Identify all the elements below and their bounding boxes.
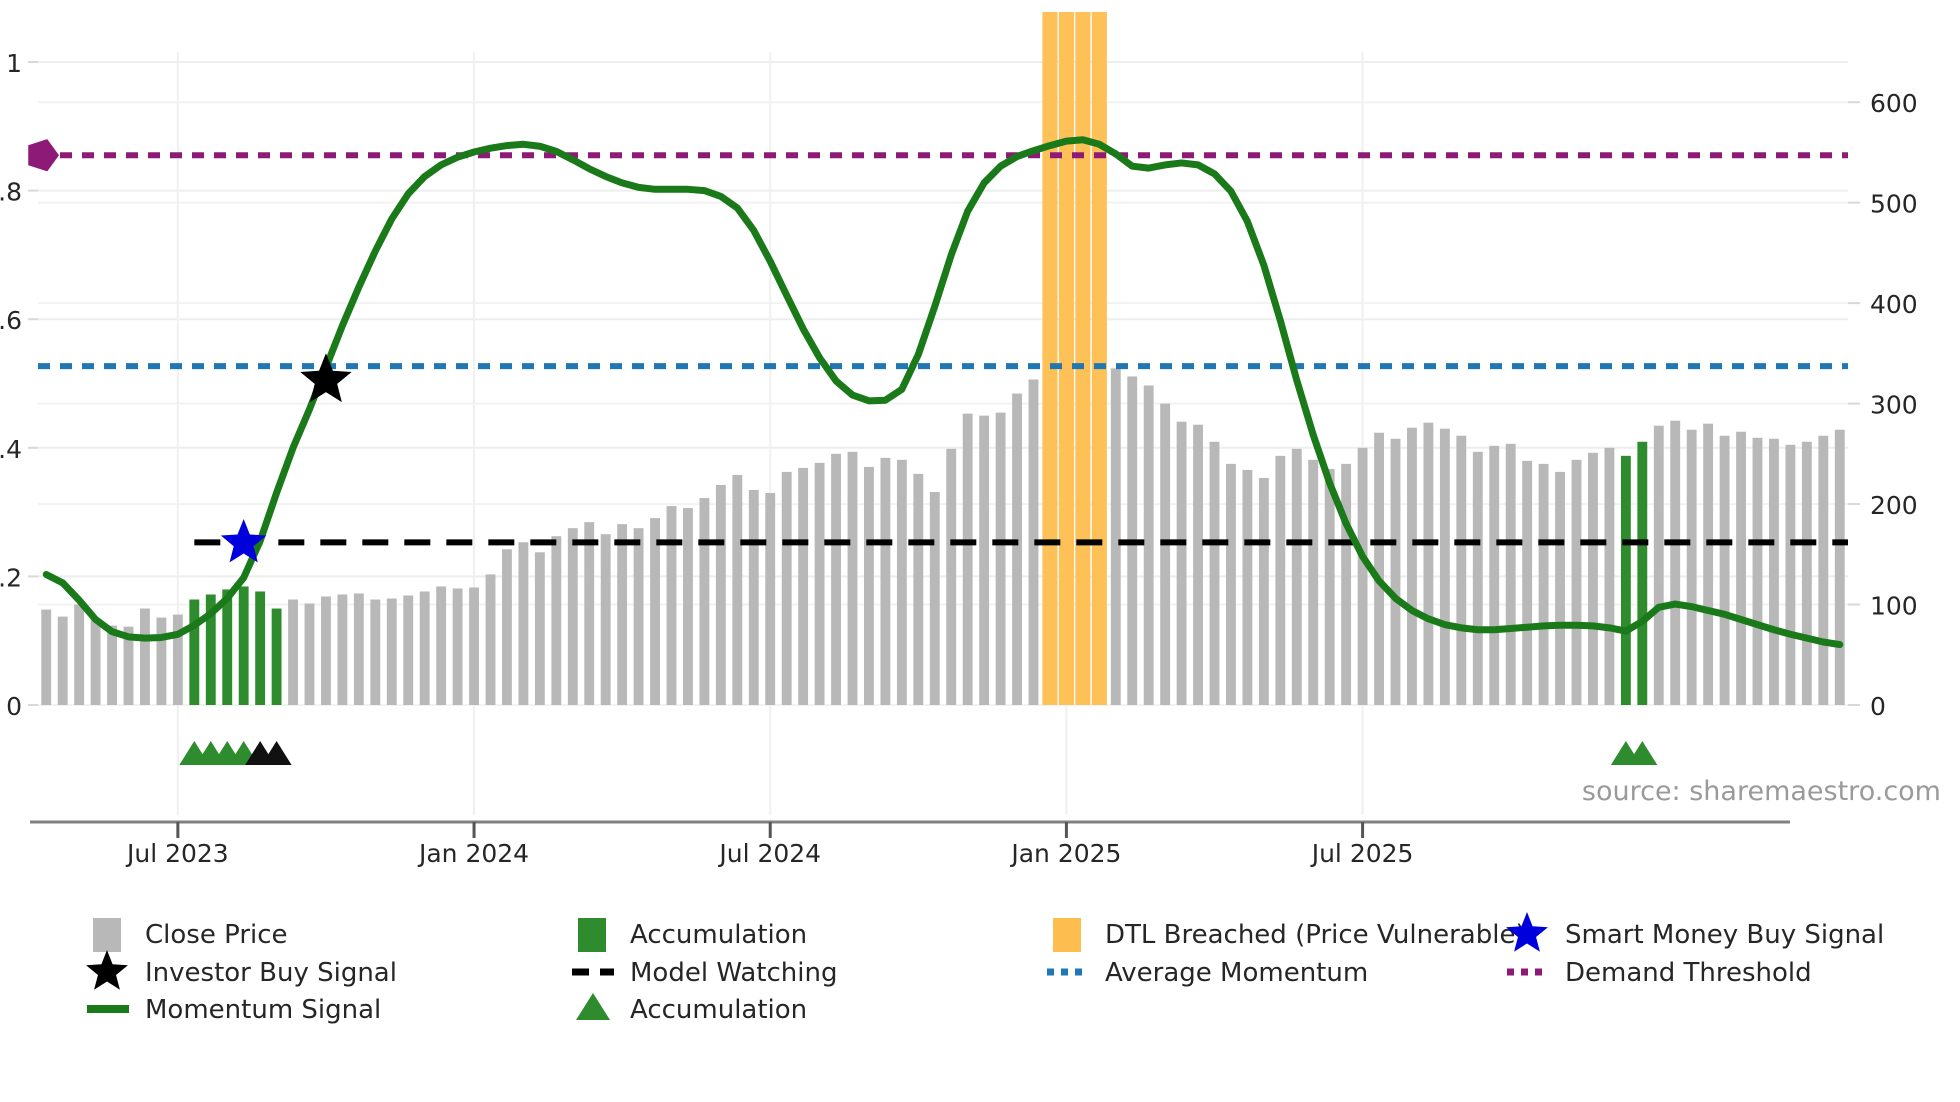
bar-close-price bbox=[1720, 436, 1730, 705]
bar-close-price bbox=[1703, 424, 1713, 705]
bar-close-price bbox=[716, 485, 726, 705]
left-axis-tick-label: 0.4 bbox=[0, 435, 22, 464]
bar-close-price bbox=[584, 522, 594, 705]
bar-close-price bbox=[963, 414, 973, 705]
bar-dtl-breached bbox=[1042, 12, 1057, 705]
bar-close-price bbox=[1325, 469, 1335, 705]
bar-close-price bbox=[1835, 430, 1845, 705]
bar-accumulation bbox=[239, 586, 249, 705]
legend-item-label: DTL Breached (Price Vulnerable) bbox=[1105, 920, 1526, 950]
right-axis-tick-label: 300 bbox=[1870, 391, 1918, 420]
bar-close-price bbox=[1670, 421, 1680, 705]
right-axis-tick-label: 0 bbox=[1870, 692, 1886, 721]
bar-close-price bbox=[1308, 460, 1318, 705]
bar-close-price bbox=[1144, 386, 1154, 705]
bar-close-price bbox=[1604, 448, 1614, 705]
bar-close-price bbox=[699, 498, 709, 705]
bar-close-price bbox=[1374, 433, 1384, 705]
left-axis-tick-label: 1 bbox=[6, 49, 22, 78]
left-axis-tick-label: 0 bbox=[6, 692, 22, 721]
bar-close-price bbox=[1654, 426, 1664, 705]
bar-close-price bbox=[453, 588, 463, 705]
bar-close-price bbox=[469, 587, 479, 705]
bar-close-price bbox=[979, 416, 989, 705]
bar-close-price bbox=[650, 518, 660, 705]
bar-close-price bbox=[1785, 445, 1795, 705]
bar-accumulation bbox=[189, 600, 199, 705]
right-axis-tick-label: 500 bbox=[1870, 190, 1918, 219]
x-axis-tick-label: Jan 2025 bbox=[1009, 839, 1121, 868]
bar-close-price bbox=[41, 610, 51, 705]
bar-dtl-breached bbox=[1059, 12, 1074, 705]
bar-close-price bbox=[1522, 461, 1532, 705]
bar-close-price bbox=[1440, 429, 1450, 705]
bar-close-price bbox=[370, 600, 380, 705]
bar-close-price bbox=[403, 595, 413, 705]
right-axis-tick-label: 200 bbox=[1870, 491, 1918, 520]
bar-close-price bbox=[1423, 423, 1433, 705]
legend-item-label: Accumulation bbox=[630, 920, 807, 950]
bar-close-price bbox=[1818, 436, 1828, 705]
bar-close-price bbox=[74, 605, 84, 705]
left-axis-tick-label: 0.2 bbox=[0, 563, 22, 592]
legend-swatch-square bbox=[1053, 918, 1081, 952]
bar-close-price bbox=[1341, 464, 1351, 705]
bar-close-price bbox=[518, 542, 528, 705]
bar-dtl-breached bbox=[1075, 12, 1090, 705]
bar-close-price bbox=[749, 490, 759, 705]
bar-close-price bbox=[996, 413, 1006, 705]
bar-close-price bbox=[1160, 404, 1170, 705]
legend-item-label: Smart Money Buy Signal bbox=[1565, 920, 1884, 950]
bar-dtl-breached bbox=[1092, 12, 1107, 705]
bar-close-price bbox=[1687, 430, 1697, 705]
bar-close-price bbox=[1193, 425, 1203, 705]
x-axis-tick-label: Jan 2024 bbox=[417, 839, 529, 868]
stock-momentum-chart: 00.20.40.60.81 0100200300400500600 Jul 2… bbox=[0, 0, 1960, 1102]
bar-close-price bbox=[156, 618, 166, 705]
bar-close-price bbox=[1111, 368, 1121, 705]
bar-close-price bbox=[667, 506, 677, 705]
bar-close-price bbox=[354, 593, 364, 705]
legend-swatch-square bbox=[578, 918, 606, 952]
bar-close-price bbox=[1275, 456, 1285, 705]
bar-close-price bbox=[1473, 452, 1483, 705]
bar-close-price bbox=[1539, 464, 1549, 705]
bar-close-price bbox=[1489, 446, 1499, 705]
legend-item-label: Demand Threshold bbox=[1565, 958, 1812, 988]
legend-item-label: Accumulation bbox=[630, 995, 807, 1025]
bar-close-price bbox=[1259, 478, 1269, 705]
bar-close-price bbox=[107, 626, 117, 705]
x-axis-tick-label: Jul 2024 bbox=[717, 839, 821, 868]
legend-swatch-square bbox=[93, 918, 121, 952]
bar-close-price bbox=[1769, 439, 1779, 705]
bar-close-price bbox=[913, 474, 923, 705]
bar-close-price bbox=[848, 452, 858, 705]
bar-accumulation bbox=[1637, 442, 1647, 705]
bar-close-price bbox=[387, 599, 397, 705]
bar-close-price bbox=[502, 549, 512, 705]
legend-dtl-breached[interactable]: DTL Breached (Price Vulnerable) bbox=[1053, 918, 1526, 952]
bar-accumulation bbox=[1621, 456, 1631, 705]
bar-close-price bbox=[140, 609, 150, 705]
right-axis-tick-label: 100 bbox=[1870, 592, 1918, 621]
bar-close-price bbox=[568, 528, 578, 705]
chart-canvas: 00.20.40.60.81 0100200300400500600 Jul 2… bbox=[0, 0, 1960, 1102]
bar-close-price bbox=[930, 492, 940, 705]
bar-close-price bbox=[1572, 460, 1582, 705]
legend-item-label: Average Momentum bbox=[1105, 958, 1368, 988]
bar-close-price bbox=[1177, 422, 1187, 705]
bar-close-price bbox=[1210, 442, 1220, 705]
bar-close-price bbox=[1456, 436, 1466, 705]
x-axis-tick-label: Jul 2023 bbox=[125, 839, 229, 868]
bar-close-price bbox=[601, 534, 611, 705]
bar-close-price bbox=[732, 475, 742, 705]
bar-close-price bbox=[1292, 449, 1302, 705]
left-axis-tick-label: 0.6 bbox=[0, 306, 22, 335]
bar-accumulation bbox=[255, 591, 265, 705]
bar-close-price bbox=[436, 586, 446, 705]
bar-close-price bbox=[1736, 432, 1746, 705]
bar-close-price bbox=[288, 600, 298, 705]
x-axis-tick-label: Jul 2025 bbox=[1310, 839, 1414, 868]
left-axis-tick-label: 0.8 bbox=[0, 178, 22, 207]
bar-close-price bbox=[946, 449, 956, 705]
bar-close-price bbox=[1391, 439, 1401, 705]
bar-close-price bbox=[58, 617, 68, 705]
bar-close-price bbox=[1802, 442, 1812, 705]
bar-close-price bbox=[1226, 464, 1236, 705]
bar-close-price bbox=[173, 615, 183, 705]
bar-accumulation bbox=[272, 609, 282, 705]
bar-close-price bbox=[420, 591, 430, 705]
bar-close-price bbox=[91, 620, 101, 705]
bar-accumulation bbox=[222, 589, 232, 705]
bar-close-price bbox=[1242, 470, 1252, 705]
bar-close-price bbox=[1753, 438, 1763, 705]
bar-close-price bbox=[321, 596, 331, 705]
bar-close-price bbox=[1407, 428, 1417, 705]
source-attribution: source: sharemaestro.com bbox=[1582, 776, 1941, 807]
legend-item-label: Momentum Signal bbox=[145, 995, 381, 1025]
bar-close-price bbox=[535, 552, 545, 705]
bar-close-price bbox=[683, 508, 693, 705]
legend-item-label: Model Watching bbox=[630, 958, 837, 988]
bar-close-price bbox=[1588, 453, 1598, 705]
bar-close-price bbox=[337, 594, 347, 705]
right-axis-tick-label: 400 bbox=[1870, 290, 1918, 319]
bar-close-price bbox=[1012, 394, 1022, 705]
bar-close-price bbox=[864, 467, 874, 705]
bar-close-price bbox=[1506, 444, 1516, 705]
bar-close-price bbox=[486, 574, 496, 705]
bar-close-price bbox=[551, 536, 561, 705]
bar-close-price bbox=[897, 460, 907, 705]
bar-close-price bbox=[798, 468, 808, 705]
legend-item-label: Close Price bbox=[145, 920, 288, 950]
bar-close-price bbox=[831, 454, 841, 705]
bar-close-price bbox=[782, 472, 792, 705]
bar-close-price bbox=[1358, 448, 1368, 705]
bar-close-price bbox=[305, 604, 315, 705]
bar-close-price bbox=[634, 528, 644, 705]
bar-close-price bbox=[765, 493, 775, 705]
bar-close-price bbox=[1555, 472, 1565, 705]
legend-item-label: Investor Buy Signal bbox=[145, 958, 397, 988]
bar-close-price bbox=[815, 463, 825, 705]
right-axis-tick-label: 600 bbox=[1870, 89, 1918, 118]
bar-close-price bbox=[617, 524, 627, 705]
bar-close-price bbox=[880, 458, 890, 705]
